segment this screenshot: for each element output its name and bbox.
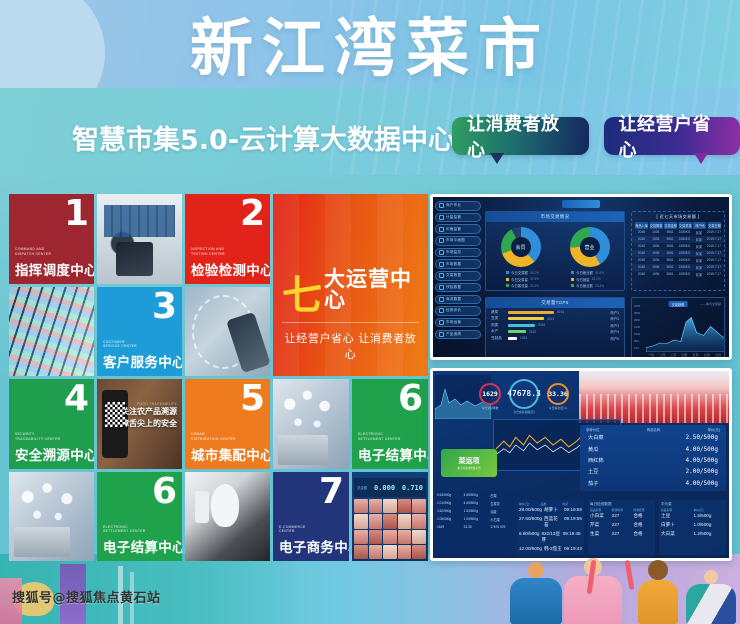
header-cell: 检测时间 [612, 508, 632, 512]
feed-row: 3.62/500g1.63/500g油麦 [435, 507, 517, 515]
cell: 1080KG [678, 251, 691, 256]
cell: 民某 [692, 265, 705, 270]
table-title: 平价菜 [661, 502, 724, 507]
person-blue [510, 562, 562, 624]
sidebar-item-7[interactable]: 快检数据 [435, 283, 481, 293]
pos-weight: 0.000 [374, 484, 395, 492]
center-tile-5[interactable]: 5 URBAN DISTRIBUTION CENTER 城市集配中心 [185, 379, 270, 469]
donut-chart-members: 会员 [501, 227, 541, 267]
pos-header: 总金额 0.000 0.710 [354, 478, 426, 497]
list-row: 28.00/500g胡萝卜09:19:59 [519, 506, 582, 515]
sidebar-item-9[interactable]: 检测评价 [435, 306, 481, 316]
cell: 1006 [649, 272, 662, 277]
bar-rank: 商户2 [610, 316, 619, 321]
y-tick: 100 [634, 346, 640, 350]
trade-feed-left: 5.63/500g4.65/500g白菜 2.01/500g4.65/500g生… [435, 491, 517, 555]
cell: 5061 [664, 251, 677, 256]
cell: 4.65/500g [464, 493, 489, 498]
cell: 民某 [692, 237, 705, 242]
card-title: 市场交易情况 [541, 214, 570, 220]
price-value: 4.00/500g [685, 480, 718, 487]
photo-video-wall [9, 287, 94, 377]
x-tick: 六月 [704, 353, 710, 357]
chart-legend-note: ——本月交易额 [700, 302, 721, 306]
person-head [528, 562, 544, 578]
price-name: 西红柿 [588, 457, 604, 464]
kpi-caption: 今日客流(百人) [547, 406, 569, 410]
cell: 2048 [635, 237, 648, 242]
bar-value: 2152 [529, 330, 536, 334]
badge-merchant-label: 让经营户省心 [619, 110, 726, 162]
cell: 民某 [692, 230, 705, 235]
table-header-cell: 交易数量 [650, 222, 663, 229]
price-row: 西红柿4.00/500g [582, 455, 724, 466]
legend-value: 31.5% [530, 277, 539, 281]
price-row: 土豆2.00/500g [582, 466, 724, 477]
table-header-cell: 交易日期 [708, 222, 721, 229]
cell: 5.63/500g [437, 493, 462, 498]
cell: 5061 [664, 237, 677, 242]
cell: 227 [612, 513, 632, 519]
cell: 生菜花 [490, 501, 515, 506]
cell: 2.01/500g [437, 501, 462, 506]
x-tick: 五月 [693, 353, 699, 357]
bar-name: 蔬菜 [491, 310, 505, 315]
center-tile-6-dup[interactable]: 6 ELECTRONIC SETTLEMENT CENTER 电子结算中心 [97, 472, 182, 562]
center-name: 客户服务中心 [103, 351, 176, 371]
legend-members: 今日交易额38.2% 今日交易量31.5% 今日客流量30.3% [506, 270, 539, 288]
cell: 胡萝卜 [544, 507, 562, 513]
detect-row: 生菜227合格 [590, 529, 653, 538]
market-logo: 菜运项 新江湾菜市智慧平台 [441, 449, 497, 477]
cell: 1.63/500g [464, 509, 489, 514]
legend-label: 今日营业额 [576, 270, 593, 275]
center-tile-6[interactable]: 6 ELECTRONIC SETTLEMENT CENTER 电子结算中心 [352, 379, 428, 469]
header-cell: 商品名称 [590, 508, 610, 512]
badge-tail-icon [694, 153, 708, 164]
card-title: 交易量TOP5 [541, 300, 568, 306]
kpi-value: 33.36 [548, 390, 568, 398]
badge-merchant: 让经营户省心 [604, 117, 740, 155]
center-name: 电子结算中心 [358, 444, 422, 464]
header-cell: 检测结果 [633, 508, 653, 512]
panel-divider [282, 322, 419, 323]
cell: 1080KG [678, 230, 691, 235]
page-subtitle: 智慧市集5.0-云计算大数据中心 [72, 118, 455, 157]
cell: 2048 [635, 272, 648, 277]
flask-icon [439, 285, 444, 290]
cell: 生菜 [590, 531, 610, 537]
donut-chart-business: 营业 [570, 227, 610, 267]
badge-tail-icon [490, 153, 504, 164]
sidebar-label: 商流数据 [446, 297, 461, 302]
sidebar-label: 价格监管 [446, 227, 461, 232]
y-tick: 3500 [634, 311, 640, 315]
center-english: CUSTOMER SERVICE CENTER [103, 340, 176, 349]
chart-y-axis: 4200 3500 2800 2100 1500 800 100 [634, 304, 640, 350]
cell: 民某 [692, 272, 705, 277]
center-number: 4 [64, 381, 89, 417]
cell: 合格 [633, 522, 653, 528]
cheap-vegetables-table: 平价菜 商品名称 单价(元) 土豆1.5/500g 白萝卜1.0/500g 大白… [659, 500, 726, 555]
photo-desk-payment [185, 472, 270, 562]
y-tick: 1500 [634, 332, 640, 336]
legend-value: 25.3% [595, 284, 604, 288]
y-tick: 800 [634, 339, 640, 343]
donut-legends: 今日交易额38.2% 今日交易量31.5% 今日客流量30.3% 今日营业额41… [486, 270, 624, 288]
scale-icon [439, 215, 444, 220]
kpi-caption: 今日交易笔数 [479, 406, 501, 410]
center-english: ELECTRONIC SETTLEMENT CENTER [103, 525, 176, 534]
page-title: 新江湾菜市 [0, 14, 740, 83]
price-left-header: 参考价位 [586, 427, 600, 432]
cell: 2019.7.17 [707, 244, 721, 249]
dashboard-top: 商户作业 计量监管 价格监管 市场平面图 市场监控 市场数据 交易数据 快检数据… [430, 194, 732, 360]
bar-value: 4413 [547, 317, 554, 321]
detect-row: 芹菜227合格 [590, 521, 653, 530]
sidebar-label: 计量监管 [446, 215, 461, 220]
cell: 芹菜 [590, 522, 610, 528]
cell: 09:19:45 [563, 531, 582, 543]
exchange-icon [439, 273, 444, 278]
center-number: 3 [152, 289, 177, 325]
cell: 1.2/500g [694, 531, 725, 537]
legend-value: 41.6% [595, 271, 604, 275]
legend-label: 今日客流量 [511, 283, 528, 288]
sidebar-label: 市场平面图 [446, 238, 465, 243]
cell: 227 [612, 522, 632, 528]
sidebar-item-1[interactable]: 计量监管 [435, 213, 481, 223]
cell: 822/13豆芽 [541, 531, 560, 543]
cell: 大白菜 [661, 531, 692, 537]
center-name: 电子结算中心 [103, 536, 176, 556]
cell: 1.5/500g [694, 513, 725, 519]
table-row: 2048100650611080KG民某2019.7.17 [632, 264, 724, 271]
cell: 白萝卜 [661, 522, 692, 528]
area-chart-svg [646, 310, 725, 352]
cell: 1.05/500g [464, 517, 489, 522]
table-header-cell: 交易重量 [679, 222, 692, 229]
legend-value: 30.3% [530, 284, 539, 288]
sidebar-label: 市场监控 [446, 250, 461, 255]
center-english: COMMAND AND DISPATCH CENTER [15, 247, 88, 256]
cell: 2019.7.17 [707, 237, 721, 242]
dashboard-sidebar: 商户作业 计量监管 价格监管 市场平面图 市场监控 市场数据 交易数据 快检数据… [435, 201, 481, 339]
cell: 5061 [664, 230, 677, 235]
summary-row: 162933.3617676.925 [435, 523, 517, 530]
card-header: 市场交易情况 [486, 212, 624, 222]
cell: 合格 [633, 531, 653, 537]
feed-row: 2.01/500g4.65/500g生菜花 [435, 499, 517, 507]
cell: 3.62/500g [437, 509, 462, 514]
price-name: 土豆 [588, 468, 598, 475]
donut-center-label: 营业 [584, 244, 594, 251]
photo-traceability-qr: FOOD TRACEABILITY 关注农产品溯源 保障舌尖上的安全 [97, 379, 182, 469]
detect-row: 小白菜227合格 [590, 512, 653, 521]
cell: 1080KG [678, 265, 691, 270]
cell: 民某 [692, 244, 705, 249]
center-tile-2[interactable]: 2 INSPECTION AND TESTING CENTER 检验检测中心 [185, 194, 270, 284]
sidebar-label: 快检数据 [446, 285, 461, 290]
cell: 28.00/500g [519, 507, 542, 513]
legend-entry: 今日交易额38.2% [506, 270, 539, 275]
person-head [648, 560, 668, 580]
legend-entry: 今日客流量30.3% [506, 283, 539, 288]
header-cell: 商品名称 [661, 508, 692, 512]
traceability-line2: 保障舌尖上的安全 [113, 418, 177, 430]
center-english: INSPECTION AND TESTING CENTER [191, 247, 264, 256]
sidebar-item-8[interactable]: 商流数据 [435, 295, 481, 305]
bar-rank: 商户3 [610, 323, 619, 328]
kpi-footfall: 33.36 今日客流(百人) [547, 383, 569, 410]
dashboard-title-tab[interactable] [562, 200, 600, 208]
cell: 227 [612, 531, 632, 537]
pos-label: 总金额 [357, 485, 367, 490]
donut-center: 营业 [580, 237, 600, 257]
table-row: 2048100650611080KG民某2019.7.17 [632, 229, 724, 236]
bar-rank: 商户4 [610, 329, 619, 334]
bar-name: 豆类 [491, 316, 505, 321]
trade-records-table: [ 近七天市场交易额 ] 商品入库 交易数量 交易金额 交易重量 商户码 交易日… [631, 211, 725, 291]
center-name: 检验检测中心 [191, 259, 264, 279]
ribbon-icon [624, 560, 634, 590]
card-header: 交易量TOP5 [486, 298, 624, 308]
center-english: E-COMMERCE CENTER [279, 525, 343, 534]
bottom-tables: 单价(元) 品类 时间 28.00/500g胡萝卜09:19:59 27.60/… [517, 500, 726, 555]
cell: 5061 [664, 244, 677, 249]
x-tick: 七月 [715, 353, 721, 357]
cell: 1006 [649, 230, 662, 235]
bar-rank: 商户1 [610, 310, 619, 315]
seven-centers-subtitle: 让经营户省心 让消费者放心 [282, 330, 419, 362]
x-tick: 一月 [648, 353, 654, 357]
photo-laptop-network [9, 472, 94, 562]
sidebar-item-6[interactable]: 交易数据 [435, 271, 481, 281]
pos-product-grid [354, 499, 426, 559]
center-number: 1 [64, 196, 89, 232]
bar-rank: 商户5 [610, 336, 619, 341]
sidebar-item-3[interactable]: 市场平面图 [435, 236, 481, 246]
person-head [704, 570, 718, 584]
cell: 1006 [649, 265, 662, 270]
dashboard-bottom: 1629 今日交易笔数 47678.3 今日交易总额(元) 33.36 今日客流… [430, 368, 732, 561]
cell: 2019.7.17 [707, 251, 721, 256]
price-col-price: 单价(元) [708, 427, 720, 432]
cell: 2019.7.17 [707, 272, 721, 277]
kpi-total-amount: 47678.3 今日交易总额(元) [509, 379, 539, 414]
center-number: 6 [152, 474, 177, 510]
summary-value: 17676.925 [490, 525, 515, 529]
x-tick: 四月 [681, 353, 687, 357]
kpi-caption: 今日交易总额(元) [509, 410, 539, 414]
table-header-cell: 交易金额 [664, 222, 677, 229]
cell: 1006 [649, 237, 662, 242]
cell: 09:19:43 [564, 546, 582, 552]
price-value: 4.00/500g [685, 457, 718, 464]
person-teal [686, 570, 736, 624]
sidebar-label: 市场运营 [446, 320, 461, 325]
cell: 2048 [635, 265, 648, 270]
store-icon [439, 320, 444, 325]
logo-subtext: 新江湾菜市智慧平台 [457, 466, 480, 470]
header-cell: 时间 [562, 502, 582, 506]
legend-business: 今日营业额41.6% 今日销量33.1% 今日营业数25.3% [571, 270, 604, 288]
top-bar-row: 豆制品1033商户5 [486, 334, 624, 341]
centers-mosaic: 1 COMMAND AND DISPATCH CENTER 指挥调度中心 2 I… [9, 194, 420, 561]
person-orange [638, 560, 678, 624]
legend-entry: 今日交易量31.5% [506, 277, 539, 282]
center-english: SECURITY TRACEABILITY CENTER [15, 432, 88, 441]
sidebar-item-4[interactable]: 市场监控 [435, 248, 481, 258]
header-cell: 品类 [541, 502, 561, 506]
cell: 西蓝花苔 [544, 516, 562, 528]
cell: 4.65/500g [464, 501, 489, 506]
table-row: 2048100650611080KG民某2019.7.17 [632, 243, 724, 250]
trade-list-table: 单价(元) 品类 时间 28.00/500g胡萝卜09:19:59 27.60/… [517, 500, 584, 555]
cell: 1080KG [678, 237, 691, 242]
trade-trend-area-chart: 交易趋势 ——本月交易额 4200 3500 2800 2100 1500 80… [631, 297, 725, 359]
cell: 2048 [635, 251, 648, 256]
camera-icon [439, 250, 444, 255]
table-row: 2048100650611080KG民某2019.7.17 [632, 250, 724, 257]
table-header-row: 商品入库 交易数量 交易金额 交易重量 商户码 交易日期 [632, 220, 724, 229]
footer-people-illustration [440, 554, 740, 624]
poster-root: 新江湾菜市 智慧市集5.0-云计算大数据中心 让消费者放心 让经营户省心 1 C… [0, 0, 740, 624]
dashboard-main: 市场交易情况 会员 营业 今日交易 [485, 211, 725, 353]
traceability-line1: 关注农产品溯源 [113, 406, 177, 418]
x-tick: 二月 [659, 353, 665, 357]
center-tile-1[interactable]: 1 COMMAND AND DISPATCH CENTER 指挥调度中心 [9, 194, 94, 284]
cell: 1080KG [678, 244, 691, 249]
legend-value: 33.1% [592, 277, 601, 281]
kpi-metrics: 1629 今日交易笔数 47678.3 今日交易总额(元) 33.36 今日客流… [479, 375, 609, 417]
legend-entry: 今日销量33.1% [571, 277, 604, 282]
sidebar-label: 产品追溯 [446, 332, 461, 337]
cell: 5061 [664, 272, 677, 277]
seven-centers-panel: 七 大运营中心 让经营户省心 让消费者放心 [273, 194, 428, 376]
cell: 6.80/500g [519, 531, 539, 543]
cell: 09:19:59 [564, 507, 582, 513]
table-header-cell: 商品入库 [635, 222, 648, 229]
market-trade-card: 市场交易情况 会员 营业 今日交易 [485, 211, 625, 291]
kpi-transactions: 1629 今日交易笔数 [479, 383, 501, 410]
price-name: 茄子 [588, 480, 598, 487]
bar-value: 5214 [557, 310, 564, 314]
legend-entry: 今日营业数25.3% [571, 283, 604, 288]
dashboard-bottom-wrap: 1629 今日交易笔数 47678.3 今日交易总额(元) 33.36 今日客流… [433, 371, 729, 558]
cheap-row: 大白菜1.2/500g [661, 529, 724, 538]
price-col-name: 商品名称 [647, 427, 661, 432]
sidebar-item-10[interactable]: 市场运营 [435, 318, 481, 328]
trace-icon [439, 332, 444, 337]
sidebar-item-2[interactable]: 价格监管 [435, 224, 481, 234]
summary-value: 1629 [437, 525, 462, 529]
header-cell: 单价(元) [519, 502, 539, 506]
legend-value: 38.2% [530, 271, 539, 275]
cell: 2048 [635, 230, 648, 235]
cell: 2019.7.17 [707, 230, 721, 235]
sidebar-label: 市场数据 [446, 262, 461, 267]
legend-entry: 今日营业额41.6% [571, 270, 604, 275]
trade-top5-card: 交易量TOP5 蔬菜5214商户1 豆类4413商户2 肉类3248商户3 水产… [485, 297, 625, 359]
donut-row: 会员 营业 [486, 227, 624, 267]
price-value: 2.00/500g [685, 468, 718, 475]
center-tile-3[interactable]: 3 CUSTOMER SERVICE CENTER 客户服务中心 [97, 287, 182, 377]
cheap-row: 土豆1.5/500g [661, 512, 724, 521]
sidebar-item-5[interactable]: 市场数据 [435, 259, 481, 269]
kpi-value: 47678.3 [507, 389, 541, 398]
logo-text: 菜运项 [459, 456, 480, 466]
kpi-ring: 47678.3 [509, 379, 539, 409]
chart-icon [439, 262, 444, 267]
kpi-ring: 1629 [479, 383, 501, 405]
cell: 1.0/500g [694, 522, 725, 528]
center-number: 7 [319, 474, 344, 510]
cell: 1080KG [678, 272, 691, 277]
list-header: 单价(元) 品类 时间 [519, 502, 582, 506]
cell: 1080KG [678, 258, 691, 263]
user-icon [439, 297, 444, 302]
center-english: ELECTRONIC SETTLEMENT CENTER [358, 432, 422, 441]
y-tick: 2800 [634, 318, 640, 322]
person-body [510, 578, 562, 624]
cell: 小白菜 [590, 513, 610, 519]
chart-pill-label: 交易趋势 [669, 301, 688, 307]
daily-detection-table: 每日检测数据 商品名称 检测时间 检测结果 小白菜227合格 芹菜227合格 生… [588, 500, 655, 555]
table-header-cell: 商户码 [693, 222, 706, 229]
cell: 27.60/500g [519, 516, 542, 528]
y-tick: 4200 [634, 304, 640, 308]
legend-label: 今日营业数 [576, 283, 593, 288]
cell: 小白菜 [490, 517, 515, 522]
tag-icon [439, 227, 444, 232]
sidebar-item-11[interactable]: 产品追溯 [435, 330, 481, 340]
x-tick: 三月 [670, 353, 676, 357]
sidebar-label: 检测评价 [446, 308, 461, 313]
donut-center: 会员 [511, 237, 531, 257]
price-row: 黄瓜4.00/500g [582, 443, 724, 454]
center-tile-4[interactable]: 4 SECURITY TRACEABILITY CENTER 安全溯源中心 [9, 379, 94, 469]
traceability-caption: FOOD TRACEABILITY 关注农产品溯源 保障舌尖上的安全 [113, 402, 177, 430]
reference-price-table: 参考价位 商品名称 单价(元) 大白菜2.50/500g 黄瓜4.00/500g… [580, 425, 726, 491]
cell: 民某 [692, 251, 705, 256]
bar-name: 水产 [491, 329, 505, 334]
cell: 2019.7.17 [707, 265, 721, 270]
map-icon [439, 238, 444, 243]
sidebar-item-0[interactable]: 商户作业 [435, 201, 481, 211]
center-name: 电子商务中心 [279, 536, 343, 556]
cell: 5061 [664, 265, 677, 270]
price-value: 4.00/500g [685, 446, 718, 453]
bar-value: 3248 [538, 323, 545, 327]
photo-mobile-network [185, 287, 270, 377]
center-number: 6 [398, 381, 423, 417]
cell: 白菜 [490, 493, 515, 498]
list-row: 12.00/500g韩-2茄王09:19:43 [519, 544, 582, 553]
center-name: 指挥调度中心 [15, 259, 88, 279]
legend-label: 今日销量 [576, 277, 590, 282]
cell: 油麦 [490, 509, 515, 514]
donut-center-label: 会员 [515, 244, 525, 251]
cell: 1006 [649, 244, 662, 249]
center-tile-7[interactable]: 7 E-COMMERCE CENTER 电子商务中心 [273, 472, 349, 562]
kpi-value: 1629 [482, 390, 498, 398]
badge-consumer: 让消费者放心 [452, 117, 589, 155]
list-row: 27.60/500g西蓝花苔09:19:55 [519, 515, 582, 530]
cell: 1006 [649, 258, 662, 263]
seven-glyph: 七 [282, 279, 322, 313]
person-body [638, 580, 678, 624]
